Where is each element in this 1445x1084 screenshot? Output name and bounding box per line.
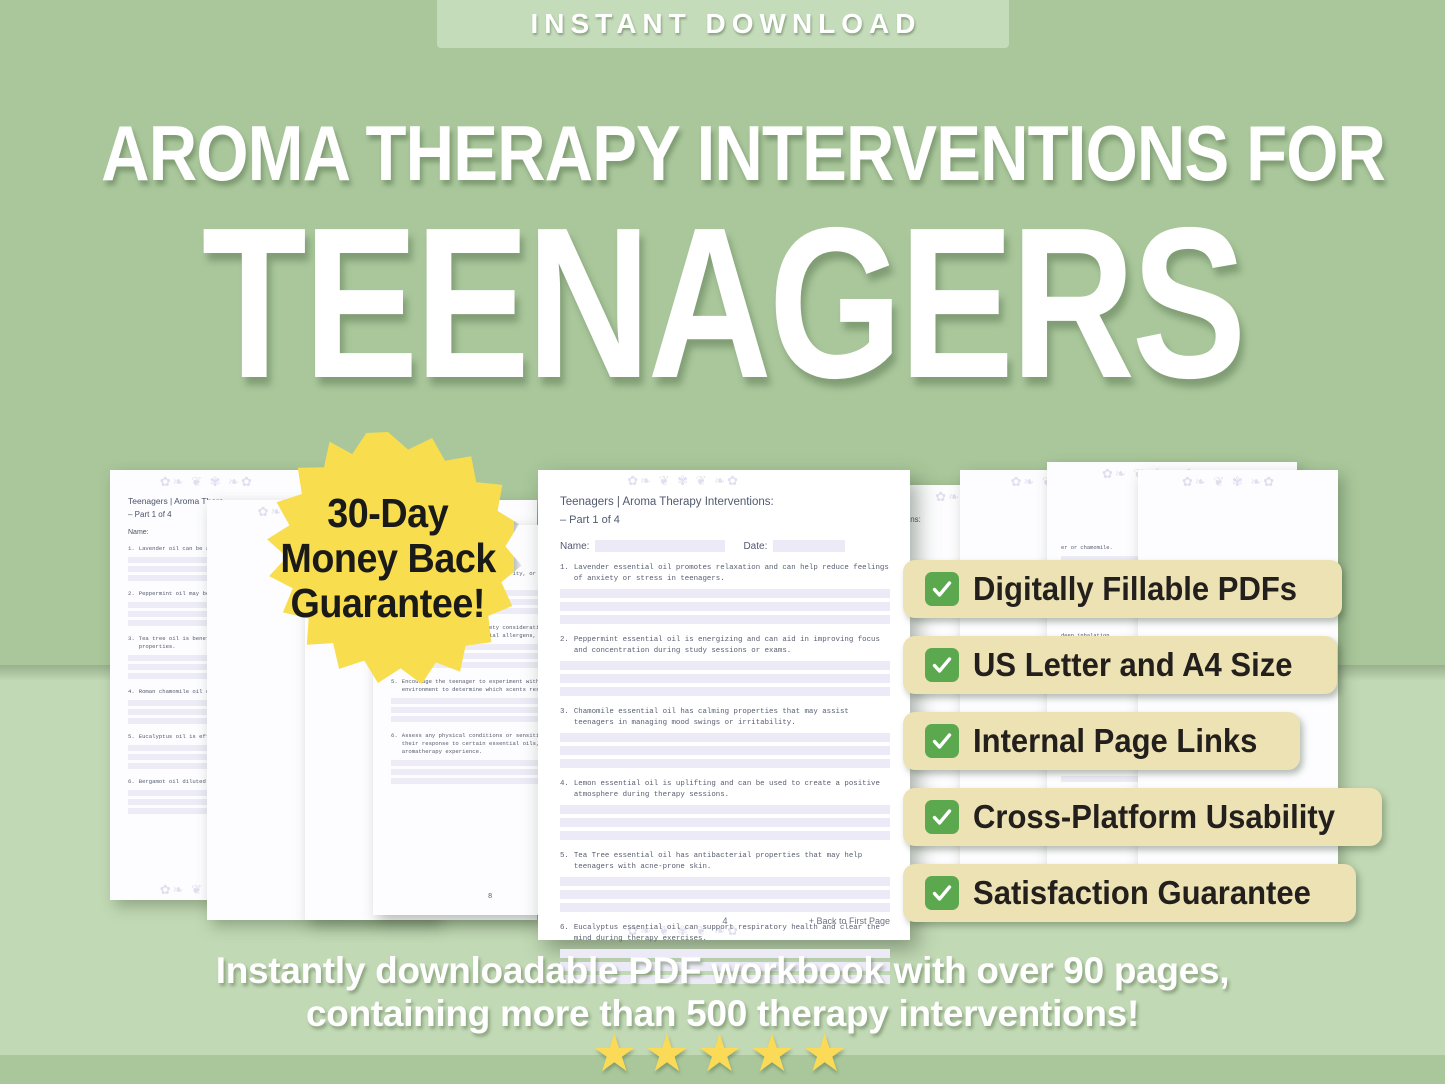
feature-pill-us-letter-and-a4-size[interactable]: US Letter and A4 Size — [903, 636, 1337, 694]
featured-item: 4.Lemon essential oil is uplifting and c… — [560, 779, 890, 800]
left-page-item-number: 1. — [128, 545, 135, 553]
featured-name-field[interactable] — [595, 540, 725, 552]
star-rating: ★★★★★ — [0, 1028, 1445, 1080]
left-page-item-number: 3. — [128, 635, 135, 651]
feature-pill-label: US Letter and A4 Size — [973, 646, 1292, 684]
answer-line[interactable] — [560, 890, 890, 899]
answer-line[interactable] — [560, 615, 890, 624]
featured-item-text: Chamomile essential oil has calming prop… — [574, 707, 890, 728]
featured-date-field[interactable] — [773, 540, 845, 552]
check-icon — [925, 648, 959, 682]
answer-line[interactable] — [560, 805, 890, 814]
answer-line[interactable] — [560, 733, 890, 742]
answer-line[interactable] — [560, 687, 890, 696]
featured-item-answer-lines[interactable] — [560, 589, 890, 624]
featured-name-label: Name: — [560, 541, 589, 552]
ornament-icon: ✿❧ ❦ ✾ ❦ ❧✿ — [627, 473, 740, 489]
featured-item: 6.Eucalyptus essential oil can support r… — [560, 923, 890, 944]
featured-item: 3.Chamomile essential oil has calming pr… — [560, 707, 890, 728]
answer-line[interactable] — [560, 661, 890, 670]
featured-item-text: Tea Tree essential oil has antibacterial… — [574, 851, 890, 872]
mid-page-item-number: 5. — [391, 678, 398, 694]
ornament-icon: ✿❧ ❦ ✾ ❧✿ — [160, 474, 254, 490]
featured-page-title: Teenagers | Aroma Therapy Interventions: — [560, 494, 890, 510]
featured-item: 1.Lavender essential oil promotes relaxa… — [560, 563, 890, 584]
footer-tagline-line-1: Instantly downloadable PDF workbook with… — [216, 950, 1230, 991]
featured-item-number: 5. — [560, 851, 569, 872]
left-page-item-number: 6. — [128, 778, 135, 786]
feature-pill-label: Satisfaction Guarantee — [973, 874, 1311, 912]
feature-pill-label: Digitally Fillable PDFs — [973, 570, 1297, 608]
instant-download-label: INSTANT DOWNLOAD — [525, 8, 922, 40]
ornament-icon: ✿❧ ❦ ✾ ❧✿ — [1182, 474, 1276, 490]
feature-pill-cross-platform-usability[interactable]: Cross-Platform Usability — [903, 788, 1382, 846]
featured-back-link[interactable]: + Back to First Page — [809, 916, 890, 926]
answer-line[interactable] — [560, 746, 890, 755]
left-page-item-number: 5. — [128, 733, 135, 741]
featured-page-subtitle: – Part 1 of 4 — [560, 514, 890, 526]
featured-item: 2.Peppermint essential oil is energizing… — [560, 635, 890, 656]
check-icon — [925, 724, 959, 758]
featured-item-answer-lines[interactable] — [560, 661, 890, 696]
document-page-featured: ✿❧ ❦ ✾ ❦ ❧✿ ✿❧ ❦ ✾ ❦ ❧✿ Teenagers | Arom… — [538, 470, 910, 940]
featured-item-text: Lavender essential oil promotes relaxati… — [574, 563, 890, 584]
check-icon — [925, 572, 959, 606]
mid-page-number: 8 — [488, 893, 492, 901]
answer-line[interactable] — [560, 602, 890, 611]
featured-date-label: Date: — [743, 541, 767, 552]
check-icon — [925, 876, 959, 910]
featured-page-number: 4 — [722, 916, 727, 926]
featured-item-text: Lemon essential oil is uplifting and can… — [574, 779, 890, 800]
featured-page-name-date-row: Name: Date: — [560, 540, 890, 552]
feature-pill-internal-page-links[interactable]: Internal Page Links — [903, 712, 1300, 770]
answer-line[interactable] — [560, 674, 890, 683]
footer-tagline: Instantly downloadable PDF workbook with… — [0, 952, 1445, 1032]
left-page-item-number: 2. — [128, 590, 135, 598]
featured-item-text: Eucalyptus essential oil can support res… — [574, 923, 890, 944]
featured-item-number: 2. — [560, 635, 569, 656]
page-title: TEENAGERS — [145, 195, 1301, 410]
answer-line[interactable] — [560, 759, 890, 768]
feature-pill-label: Cross-Platform Usability — [973, 798, 1335, 836]
answer-line[interactable] — [560, 818, 890, 827]
feature-pill-satisfaction-guarantee[interactable]: Satisfaction Guarantee — [903, 864, 1356, 922]
feature-pill-label: Internal Page Links — [973, 722, 1257, 760]
featured-item: 5.Tea Tree essential oil has antibacteri… — [560, 851, 890, 872]
mid-page-item-number: 6. — [391, 732, 398, 756]
featured-item-text: Peppermint essential oil is energizing a… — [574, 635, 890, 656]
featured-item-number: 4. — [560, 779, 569, 800]
left-page-item-number: 4. — [128, 688, 135, 696]
answer-line[interactable] — [560, 877, 890, 886]
featured-item-number: 6. — [560, 923, 569, 944]
feature-pill-digitally-fillable-pdfs[interactable]: Digitally Fillable PDFs — [903, 560, 1342, 618]
check-icon — [925, 800, 959, 834]
instant-download-banner: INSTANT DOWNLOAD — [437, 0, 1009, 48]
featured-item-answer-lines[interactable] — [560, 733, 890, 768]
featured-item-number: 1. — [560, 563, 569, 584]
answer-line[interactable] — [560, 903, 890, 912]
featured-item-number: 3. — [560, 707, 569, 728]
answer-line[interactable] — [560, 589, 890, 598]
featured-page-footer: 4 + Back to First Page — [560, 916, 890, 926]
poster-canvas: INSTANT DOWNLOAD AROMA THERAPY INTERVENT… — [0, 0, 1445, 1084]
featured-item-answer-lines[interactable] — [560, 877, 890, 912]
answer-line[interactable] — [560, 831, 890, 840]
featured-item-answer-lines[interactable] — [560, 805, 890, 840]
